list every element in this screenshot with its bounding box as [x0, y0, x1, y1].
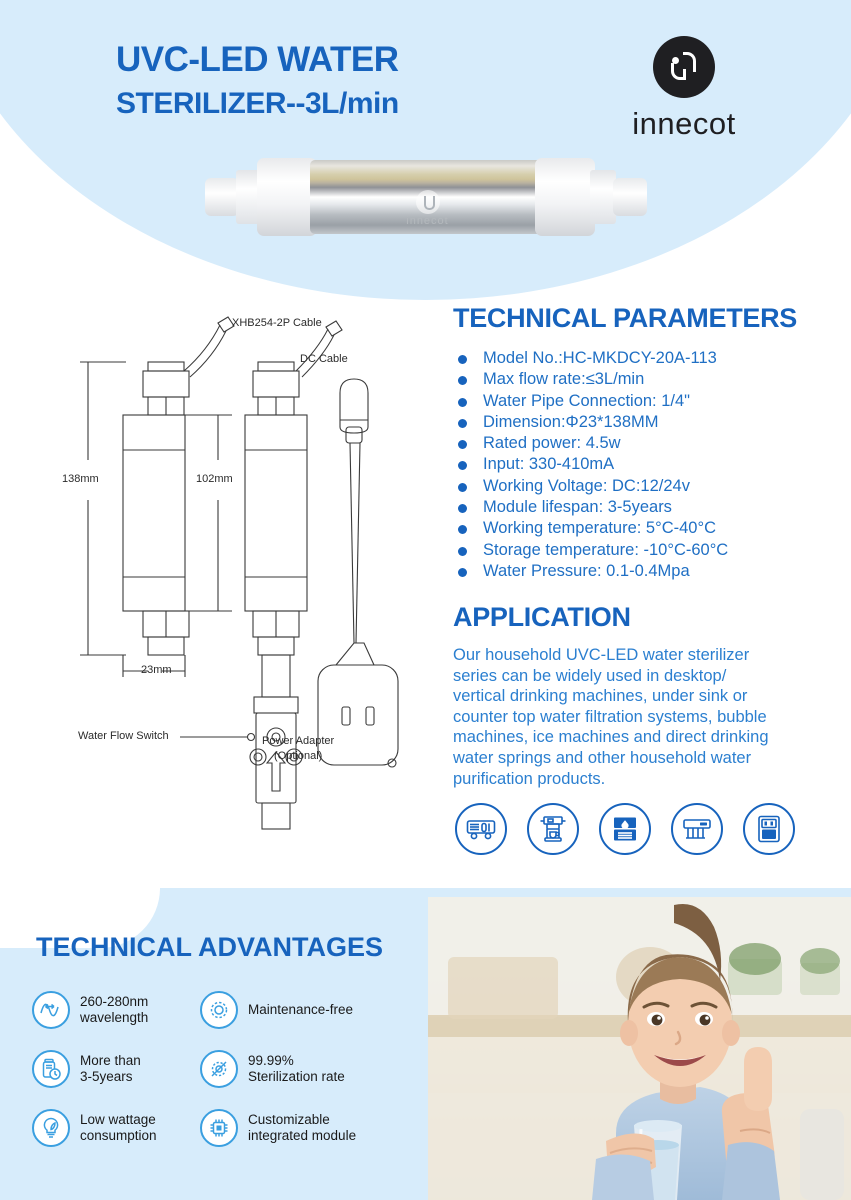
innecot-monogram-icon [653, 36, 715, 98]
product-cap-right [535, 158, 595, 236]
label-dimension-body: 102mm [196, 473, 233, 485]
gear-icon [200, 991, 238, 1029]
parameter-item: Dimension:Φ23*138MM [453, 412, 843, 433]
parameter-item: Working Voltage: DC:12/24v [453, 476, 843, 497]
technical-advantages-grid: 260-280nm wavelength Maintenance-free [32, 980, 432, 1157]
advantage-text: Customizable integrated module [248, 1112, 356, 1144]
product-cap-left [257, 158, 317, 236]
product-end-fitting-left [205, 178, 239, 216]
page-title: UVC-LED WATER STERILIZER--3L/min [116, 38, 399, 126]
advantage-item: More than 3-5years [32, 1039, 200, 1098]
parameter-item: Model No.:HC-MKDCY-20A-113 [453, 348, 843, 369]
rv-camper-icon [455, 803, 507, 855]
wavelength-icon [32, 991, 70, 1029]
label-power-adapter: Power Adapter [262, 735, 334, 747]
advantage-item: Low wattage consumption [32, 1098, 200, 1157]
monogram-tail [683, 69, 686, 80]
page-title-line1: UVC-LED WATER [116, 38, 399, 82]
water-filtration-system-icon [671, 803, 723, 855]
bulb-leaf-icon [32, 1109, 70, 1147]
technical-parameters-section: TECHNICAL PARAMETERS Model No.:HC-MKDCY-… [453, 303, 843, 582]
brand-logo: innecot [604, 36, 764, 142]
label-dimension-width: 23mm [141, 664, 172, 676]
label-power-adapter-note: (Optional) [274, 750, 322, 762]
parameter-item: Module lifespan: 3-5years [453, 497, 843, 518]
label-xhb-cable: XHB254-2P Cable [232, 317, 322, 329]
label-water-flow-switch: Water Flow Switch [78, 730, 169, 742]
water-dispenser-icon [599, 803, 651, 855]
technical-advantages-title: TECHNICAL ADVANTAGES [36, 932, 383, 963]
header-banner: UVC-LED WATER STERILIZER--3L/min innecot… [0, 0, 851, 300]
label-dimension-total: 138mm [62, 473, 99, 485]
parameter-item: Max flow rate:≤3L/min [453, 369, 843, 390]
coffee-machine-icon [527, 803, 579, 855]
product-photo: innecot [205, 158, 645, 236]
lifestyle-photo-svg [428, 897, 851, 1200]
product-end-fitting-right [613, 178, 647, 216]
technical-drawing-svg [40, 305, 440, 865]
application-icons [455, 803, 795, 855]
advantage-item: Maintenance-free [200, 980, 368, 1039]
application-title: APPLICATION [453, 602, 783, 633]
application-body: Our household UVC-LED water sterilizer s… [453, 645, 783, 789]
brand-wordmark: innecot [604, 106, 764, 142]
page-title-line2: STERILIZER--3L/min [116, 82, 399, 126]
technical-parameters-title: TECHNICAL PARAMETERS [453, 303, 843, 334]
advantage-text: 260-280nm wavelength [80, 994, 148, 1026]
refrigerator-dispenser-icon [743, 803, 795, 855]
chip-icon [200, 1109, 238, 1147]
label-dc-cable: DC Cable [300, 353, 348, 365]
parameter-item: Water Pipe Connection: 1/4" [453, 391, 843, 412]
parameter-item: Storage temperature: -10°C-60°C [453, 540, 843, 561]
product-logo-icon [416, 190, 440, 214]
parameter-item: Working temperature: 5°C-40°C [453, 518, 843, 539]
lifestyle-photo [428, 897, 851, 1200]
advantage-text: 99.99% Sterilization rate [248, 1053, 345, 1085]
technical-drawing: XHB254-2P Cable DC Cable 138mm 102mm 23m… [40, 305, 440, 865]
battery-clock-icon [32, 1050, 70, 1088]
advantage-text: Low wattage consumption [80, 1112, 157, 1144]
application-section: APPLICATION Our household UVC-LED water … [453, 602, 783, 789]
parameter-item: Water Pressure: 0.1-0.4Mpa [453, 561, 843, 582]
parameter-item: Input: 330-410mA [453, 454, 843, 475]
advantage-item: 99.99% Sterilization rate [200, 1039, 368, 1098]
advantage-item: Customizable integrated module [200, 1098, 368, 1157]
parameter-item: Rated power: 4.5w [453, 433, 843, 454]
product-logo-text: innecot [406, 215, 448, 227]
advantage-text: More than 3-5years [80, 1053, 141, 1085]
product-barrel: innecot [310, 160, 545, 234]
advantage-item: 260-280nm wavelength [32, 980, 200, 1039]
advantage-text: Maintenance-free [248, 1002, 353, 1018]
technical-parameters-list: Model No.:HC-MKDCY-20A-113 Max flow rate… [453, 348, 843, 582]
germ-blocked-icon [200, 1050, 238, 1088]
